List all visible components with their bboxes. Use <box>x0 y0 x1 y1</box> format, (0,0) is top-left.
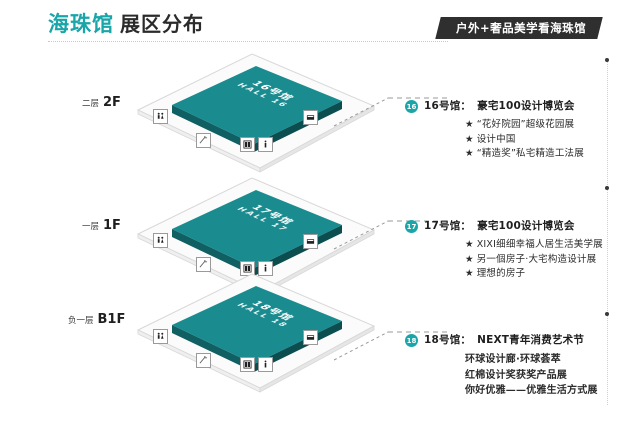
floor-label-b1f: 负一层 B1F <box>68 312 125 327</box>
floor-label-1f-cn: 一层 <box>82 220 99 232</box>
header-badge: 户外+奢品美学看海珠馆 <box>435 17 603 39</box>
list-item: 环球设计廊·环球荟萃 <box>465 352 630 368</box>
list-item: ★设计中国 <box>465 133 630 148</box>
floor-label-1f-en: 1F <box>103 218 121 233</box>
info-badge-17: 17 <box>405 220 418 233</box>
rail-marker-dot <box>605 186 609 190</box>
info-badge-18: 18 <box>405 334 418 347</box>
star-bullet-icon: ★ <box>465 254 474 265</box>
info-title-17: 豪宅100设计博览会 <box>477 218 574 233</box>
page-header: 海珠馆 展区分布 户外+奢品美学看海珠馆 <box>0 0 635 52</box>
rail-marker-dot <box>605 58 609 62</box>
star-bullet-icon: ★ <box>465 148 474 159</box>
floor-label-2f: 二层 2F <box>82 95 121 110</box>
exhibition-icon[interactable] <box>303 110 318 125</box>
list-item-label: 红棉设计奖获奖产品展 <box>465 370 567 381</box>
list-item: 红棉设计奖获奖产品展 <box>465 368 630 384</box>
elevator-icon[interactable] <box>240 137 255 152</box>
page-title-subject: 展区分布 <box>120 14 204 34</box>
escalator-icon[interactable] <box>196 353 211 368</box>
star-bullet-icon: ★ <box>465 268 474 279</box>
list-item: 你好优雅——优雅生活方式展 <box>465 383 630 399</box>
list-item-label: XIXI细细幸福人居生活美学展 <box>477 239 603 250</box>
info-head-18: 18 18号馆： NEXT青年消费艺术节 <box>405 332 630 347</box>
info-head-17: 17 17号馆： 豪宅100设计博览会 <box>405 218 630 233</box>
info-title-18: NEXT青年消费艺术节 <box>477 332 584 347</box>
list-item-label: 环球设计廊·环球荟萃 <box>465 354 561 365</box>
floor-label-2f-en: 2F <box>103 95 121 110</box>
floor-label-2f-cn: 二层 <box>82 97 99 109</box>
list-item-label: “花好院园”超级花园展 <box>477 119 575 130</box>
list-item-label: “精造奖”私宅精造工法展 <box>477 148 584 159</box>
restroom-icon[interactable] <box>153 329 168 344</box>
list-item: ★XIXI细细幸福人居生活美学展 <box>465 238 630 253</box>
header-badge-label: 户外+奢品美学看海珠馆 <box>456 20 586 36</box>
page-title: 海珠馆 展区分布 <box>48 14 204 35</box>
info-list-17: ★XIXI细细幸福人居生活美学展 ★另一個房子·大宅构造设计展 ★理想的房子 <box>405 238 630 282</box>
info-badge-16: 16 <box>405 100 418 113</box>
info-list-18: 环球设计廊·环球荟萃 红棉设计奖获奖产品展 你好优雅——优雅生活方式展 <box>405 352 630 399</box>
exhibition-icon[interactable] <box>303 234 318 249</box>
star-bullet-icon: ★ <box>465 239 474 250</box>
info-panel-17[interactable]: 17 17号馆： 豪宅100设计博览会 ★XIXI细细幸福人居生活美学展 ★另一… <box>405 218 630 282</box>
list-item-label: 理想的房子 <box>477 268 526 279</box>
list-item-label: 你好优雅——优雅生活方式展 <box>465 385 598 396</box>
star-bullet-icon: ★ <box>465 119 474 130</box>
floor-label-b1f-cn: 负一层 <box>68 314 94 326</box>
information-icon[interactable] <box>258 357 273 372</box>
info-hall-16: 16号馆： <box>424 98 471 113</box>
page-title-venue: 海珠馆 <box>48 14 114 35</box>
list-item-label: 另一個房子·大宅构造设计展 <box>477 254 597 265</box>
info-hall-17: 17号馆： <box>424 218 471 233</box>
title-divider <box>48 41 448 42</box>
list-item: ★“花好院园”超级花园展 <box>465 118 630 133</box>
information-icon[interactable] <box>258 137 273 152</box>
escalator-icon[interactable] <box>196 133 211 148</box>
list-item: ★另一個房子·大宅构造设计展 <box>465 253 630 268</box>
restroom-icon[interactable] <box>153 233 168 248</box>
elevator-icon[interactable] <box>240 357 255 372</box>
floor-label-b1f-en: B1F <box>98 312 126 327</box>
right-guide-rail <box>607 60 608 405</box>
restroom-icon[interactable] <box>153 109 168 124</box>
list-item-label: 设计中国 <box>477 134 516 145</box>
list-item: ★理想的房子 <box>465 267 630 282</box>
floor-label-1f: 一层 1F <box>82 218 121 233</box>
info-head-16: 16 16号馆： 豪宅100设计博览会 <box>405 98 630 113</box>
info-hall-18: 18号馆： <box>424 332 471 347</box>
info-panel-18[interactable]: 18 18号馆： NEXT青年消费艺术节 环球设计廊·环球荟萃 红棉设计奖获奖产… <box>405 332 630 399</box>
star-bullet-icon: ★ <box>465 134 474 145</box>
exhibition-icon[interactable] <box>303 330 318 345</box>
info-title-16: 豪宅100设计博览会 <box>477 98 574 113</box>
info-list-16: ★“花好院园”超级花园展 ★设计中国 ★“精造奖”私宅精造工法展 <box>405 118 630 162</box>
list-item: ★“精造奖”私宅精造工法展 <box>465 147 630 162</box>
rail-marker-dot <box>605 312 609 316</box>
info-panel-16[interactable]: 16 16号馆： 豪宅100设计博览会 ★“花好院园”超级花园展 ★设计中国 ★… <box>405 98 630 162</box>
